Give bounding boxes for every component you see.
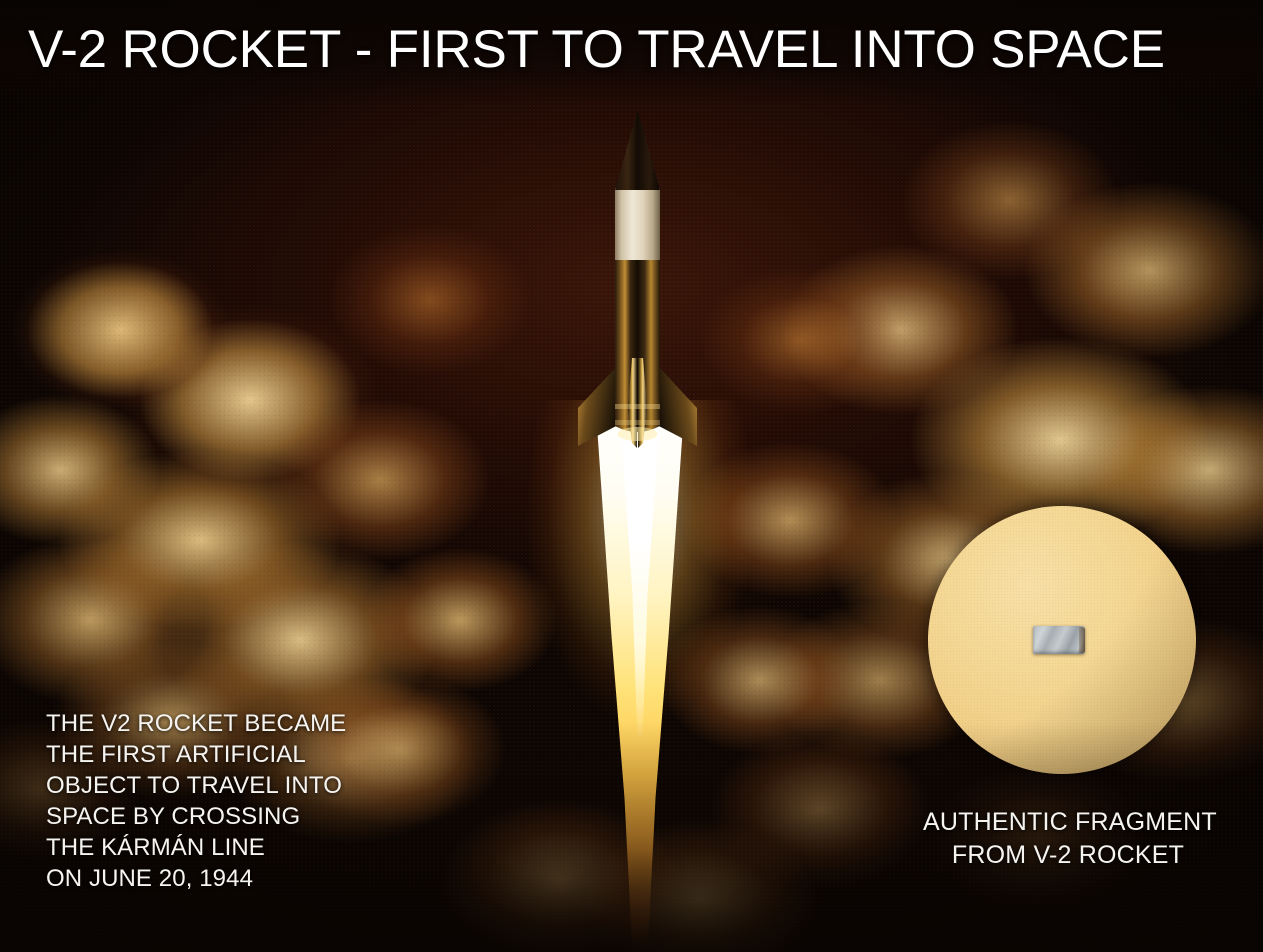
description-line: THE FIRST ARTIFICIAL xyxy=(46,739,346,770)
description-line: THE V2 ROCKET BECAME xyxy=(46,708,346,739)
caption-line: FROM V-2 ROCKET xyxy=(923,839,1213,872)
fragment-caption: AUTHENTIC FRAGMENT FROM V-2 ROCKET xyxy=(923,806,1213,872)
description-line: OBJECT TO TRAVEL INTO xyxy=(46,770,346,801)
caption-line: AUTHENTIC FRAGMENT xyxy=(923,806,1213,839)
v2-rocket-display-poster: V-2 ROCKET - FIRST TO TRAVEL INTO SPACE … xyxy=(0,0,1263,952)
page-title: V-2 ROCKET - FIRST TO TRAVEL INTO SPACE xyxy=(28,22,1243,78)
description-line: ON JUNE 20, 1944 xyxy=(46,863,346,894)
description-text-block: THE V2 ROCKET BECAME THE FIRST ARTIFICIA… xyxy=(46,708,346,894)
description-line: THE KÁRMÁN LINE xyxy=(46,832,346,863)
description-line: SPACE BY CROSSING xyxy=(46,801,346,832)
v2-rocket-metal-fragment xyxy=(1033,626,1085,654)
